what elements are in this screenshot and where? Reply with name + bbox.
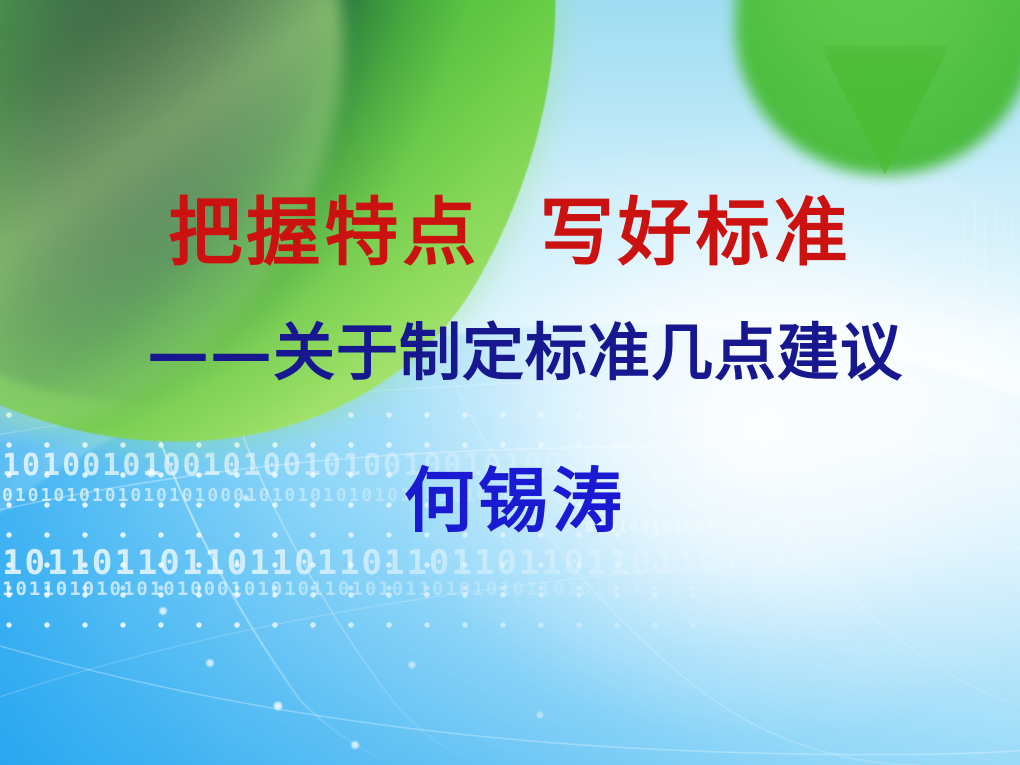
slide-subtitle: ——关于制定标准几点建议 (0, 322, 1020, 384)
slide-author: 何锡涛 (0, 466, 1020, 536)
slide-title: 把握特点 写好标准 (0, 196, 1020, 270)
presentation-slide: 1010010100101001010010010100101001010010… (0, 0, 1020, 765)
title-block: 把握特点 写好标准 ——关于制定标准几点建议 何锡涛 (0, 0, 1020, 765)
